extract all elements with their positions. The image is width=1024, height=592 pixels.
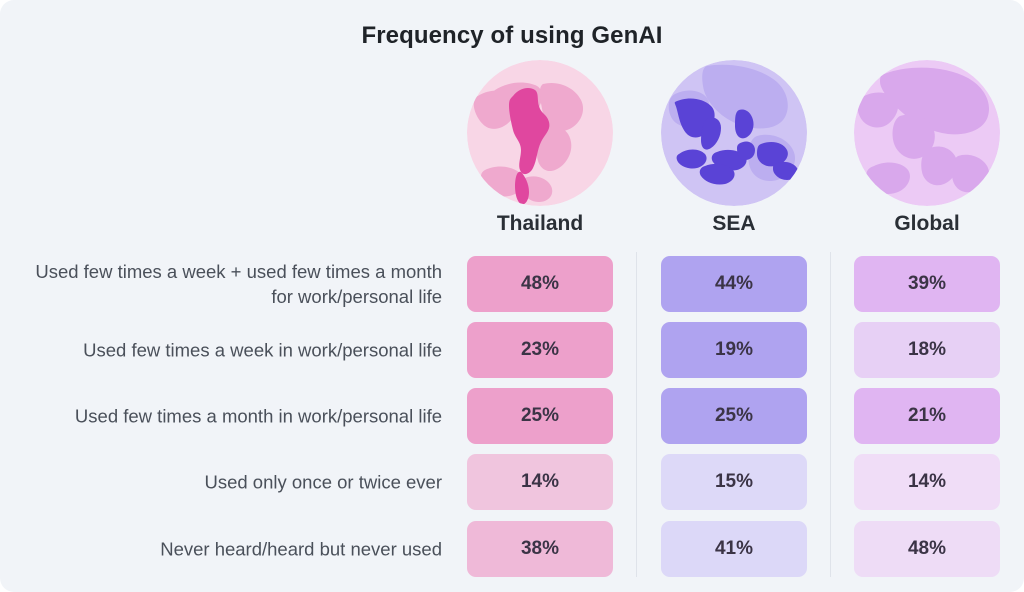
globe-sea-wrapper — [661, 60, 807, 206]
cell-global: 14% — [854, 454, 1000, 510]
cell-global: 48% — [854, 521, 1000, 577]
cell-thailand: 48% — [467, 256, 613, 312]
cell-sea: 44% — [661, 256, 807, 312]
cell-thailand: 23% — [467, 322, 613, 378]
cell-thailand: 14% — [467, 454, 613, 510]
cell-sea: 41% — [661, 521, 807, 577]
infographic-card: Frequency of using GenAI Thailand — [0, 0, 1024, 592]
row-label: Used only once or twice ever — [30, 470, 442, 495]
column-header-sea: SEA — [661, 212, 807, 236]
table-row: Used few times a week + used few times a… — [0, 256, 1024, 312]
column-header-global: Global — [854, 212, 1000, 236]
row-label: Used few times a month in work/personal … — [30, 404, 442, 429]
globe-thailand-icon — [467, 60, 613, 206]
table-row: Never heard/heard but never used 38% 41%… — [0, 521, 1024, 577]
column-header-thailand: Thailand — [467, 212, 613, 236]
table-row: Used only once or twice ever 14% 15% 14% — [0, 454, 1024, 510]
globe-global-wrapper — [854, 60, 1000, 206]
globe-sea-icon — [661, 60, 807, 206]
table-row: Used few times a week in work/personal l… — [0, 322, 1024, 378]
row-label: Never heard/heard but never used — [30, 537, 442, 562]
cell-thailand: 38% — [467, 521, 613, 577]
cell-thailand: 25% — [467, 388, 613, 444]
table-row: Used few times a month in work/personal … — [0, 388, 1024, 444]
cell-global: 39% — [854, 256, 1000, 312]
cell-sea: 19% — [661, 322, 807, 378]
cell-global: 21% — [854, 388, 1000, 444]
page-title: Frequency of using GenAI — [0, 22, 1024, 50]
row-label: Used few times a week + used few times a… — [30, 259, 442, 309]
row-label: Used few times a week in work/personal l… — [30, 338, 442, 363]
cell-sea: 25% — [661, 388, 807, 444]
cell-sea: 15% — [661, 454, 807, 510]
globe-thailand-wrapper — [467, 60, 613, 206]
cell-global: 18% — [854, 322, 1000, 378]
globe-global-icon — [854, 60, 1000, 206]
